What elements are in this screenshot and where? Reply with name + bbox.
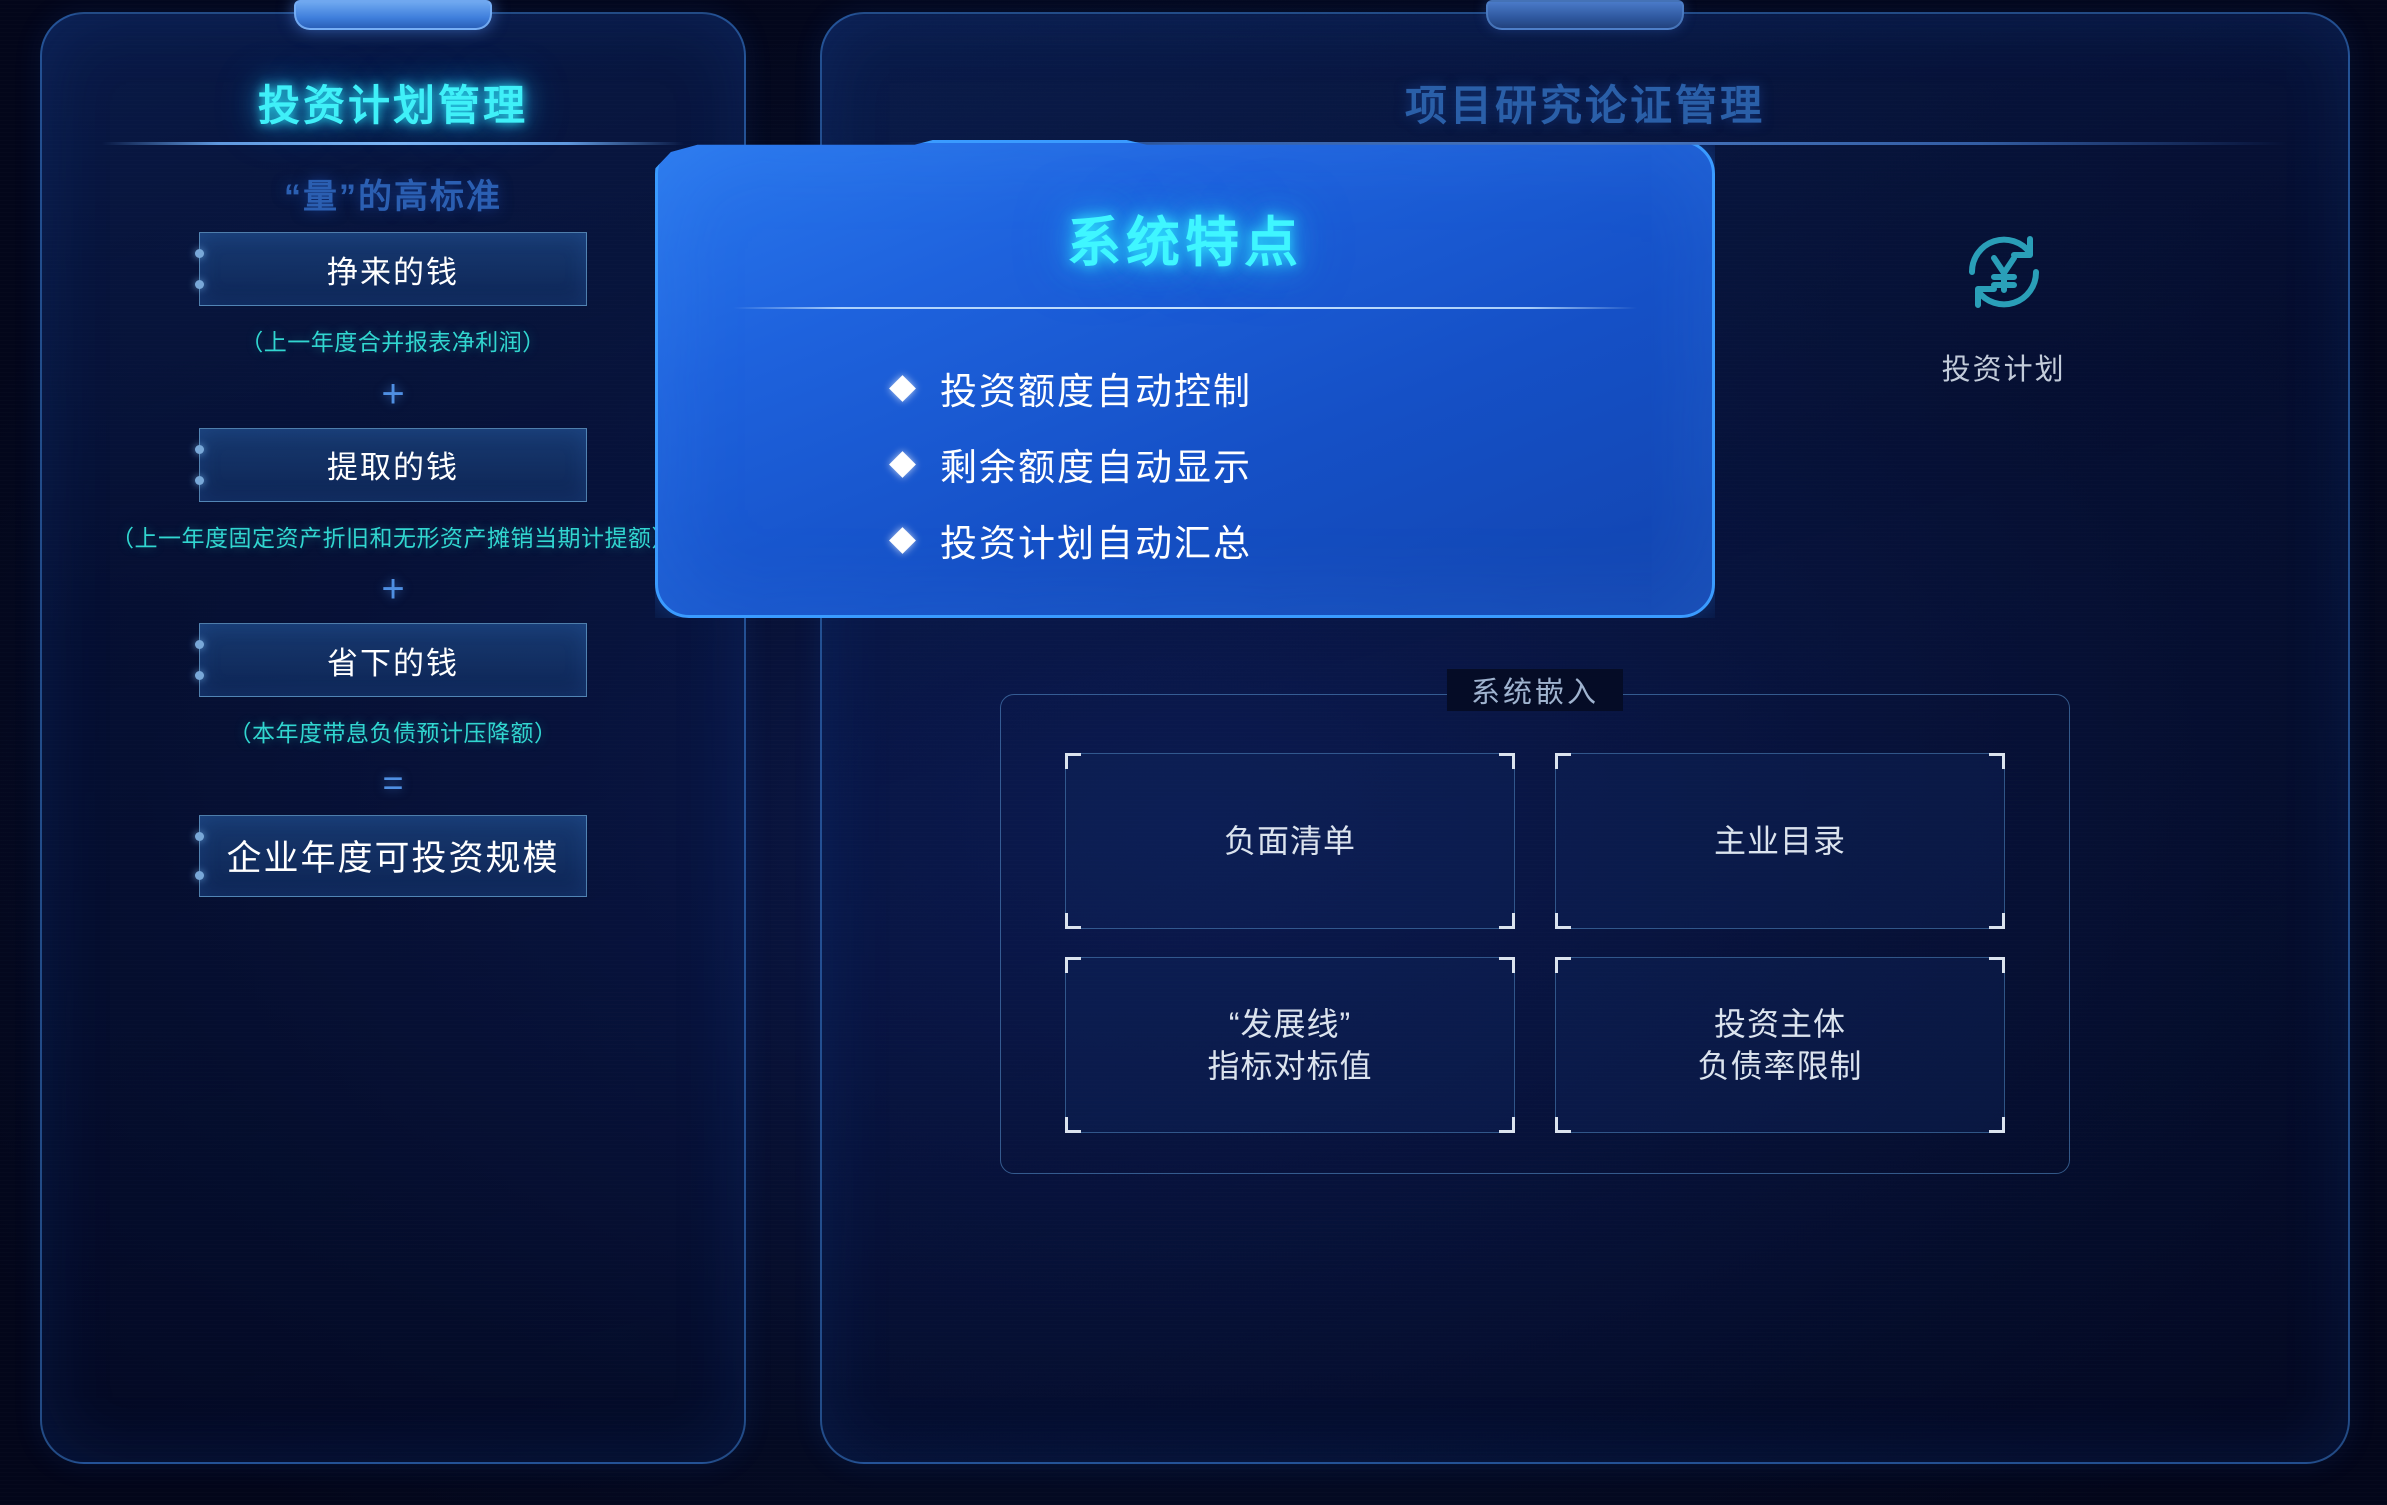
- system-embed-legend: 系统嵌入: [1447, 669, 1623, 711]
- formula-box-1-label: 挣来的钱: [327, 247, 459, 292]
- investment-formula: 挣来的钱 （上一年度合并报表净利润） + 提取的钱 （上一年度固定资产折旧和无形…: [42, 232, 744, 897]
- feature-bullet-list: 投资额度自动控制 剩余额度自动显示 投资计划自动汇总: [893, 361, 1645, 567]
- system-embed-group: 系统嵌入 负面清单 主业目录 “发展线”: [1000, 694, 2070, 1174]
- formula-operator-3: =: [42, 765, 744, 801]
- formula-box-1[interactable]: 挣来的钱: [199, 232, 587, 306]
- formula-note-3: （本年度带息负债预计压降额）: [63, 720, 723, 748]
- embed-box-line1: 主业目录: [1714, 820, 1846, 862]
- embed-box-line1: 负面清单: [1224, 820, 1356, 862]
- embed-box-investor-debt-limit[interactable]: 投资主体 负债率限制: [1555, 957, 2005, 1133]
- feature-bullet-item: 投资计划自动汇总: [893, 513, 1645, 567]
- feature-bullet-label: 剩余额度自动显示: [940, 437, 1252, 491]
- feature-bullet-label: 投资额度自动控制: [940, 361, 1252, 415]
- formula-operator-1: +: [42, 374, 744, 414]
- diamond-bullet-icon: [889, 527, 916, 554]
- module-label: 投资计划: [1942, 346, 2066, 388]
- formula-result-box[interactable]: 企业年度可投资规模: [199, 815, 587, 897]
- embed-box-line2: 负债率限制: [1697, 1045, 1862, 1087]
- embed-box-line1: 投资主体: [1697, 1003, 1862, 1045]
- feature-bullet-item: 投资额度自动控制: [893, 361, 1645, 415]
- investment-plan-panel: 投资计划管理 “量”的高标准 挣来的钱 （上一年度合并报表净利润） + 提取的钱…: [40, 12, 746, 1464]
- formula-operator-2: +: [42, 569, 744, 609]
- system-embed-grid: 负面清单 主业目录 “发展线” 指标对标值: [1065, 753, 2005, 1133]
- formula-note-1: （上一年度合并报表净利润）: [63, 329, 723, 357]
- embed-box-main-business-catalog[interactable]: 主业目录: [1555, 753, 2005, 929]
- diamond-bullet-icon: [889, 375, 916, 402]
- formula-result-label: 企业年度可投资规模: [226, 830, 559, 881]
- embed-box-line1: “发展线”: [1207, 1003, 1372, 1045]
- formula-box-3[interactable]: 省下的钱: [199, 623, 587, 697]
- feature-card-divider: [733, 307, 1637, 309]
- slide-stage: 投资计划管理 “量”的高标准 挣来的钱 （上一年度合并报表净利润） + 提取的钱…: [0, 0, 2387, 1505]
- system-features-card[interactable]: 系统特点 投资额度自动控制 剩余额度自动显示 投资计划自动汇总: [655, 140, 1715, 618]
- right-panel-title: 项目研究论证管理: [822, 72, 2348, 133]
- formula-box-3-label: 省下的钱: [327, 638, 459, 683]
- embed-box-line2: 指标对标值: [1207, 1045, 1372, 1087]
- module-item-investment-plan[interactable]: 投资计划: [1874, 220, 2134, 388]
- feature-card-title: 系统特点: [725, 198, 1645, 277]
- embed-box-development-line[interactable]: “发展线” 指标对标值: [1065, 957, 1515, 1133]
- panel-tab-left: [294, 0, 492, 30]
- feature-bullet-item: 剩余额度自动显示: [893, 437, 1645, 491]
- formula-note-2: （上一年度固定资产折旧和无形资产摊销当期计提额）: [63, 525, 723, 553]
- feature-bullet-label: 投资计划自动汇总: [940, 513, 1252, 567]
- panel-tab-right: [1486, 0, 1684, 30]
- left-panel-subtitle: “量”的高标准: [42, 169, 744, 218]
- yen-refresh-icon: [1952, 220, 2056, 324]
- left-panel-title: 投资计划管理: [42, 72, 744, 133]
- diamond-bullet-icon: [889, 451, 916, 478]
- formula-box-2-label: 提取的钱: [327, 442, 459, 487]
- formula-box-2[interactable]: 提取的钱: [199, 428, 587, 502]
- left-title-divider: [102, 142, 684, 145]
- embed-box-negative-list[interactable]: 负面清单: [1065, 753, 1515, 929]
